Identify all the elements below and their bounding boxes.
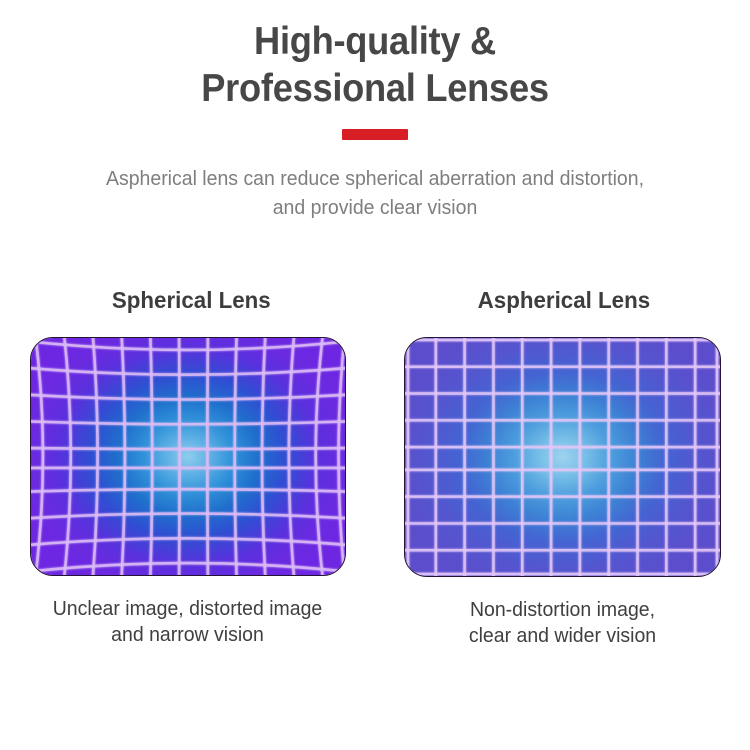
page-title-line-1: High-quality & [26,18,724,65]
aspherical-lens-panel [404,337,721,577]
page-title: High-quality & Professional Lenses [26,0,724,112]
aspherical-lens-caption: Non-distortion image, clear and wider vi… [384,577,740,649]
spherical-lens-caption-line-1: Unclear image, distorted image [9,596,365,622]
aspherical-lens-heading: Aspherical Lens [384,285,740,315]
spherical-lens-panel [30,337,346,576]
spherical-lens-heading: Spherical Lens [9,285,365,315]
header: High-quality & Professional Lenses Asphe… [0,0,750,222]
page-subtitle-line-1: Aspherical lens can reduce spherical abe… [19,164,732,193]
infographic-page: High-quality & Professional Lenses Asphe… [0,0,750,750]
spherical-lens-caption-line-2: and narrow vision [9,622,365,648]
page-subtitle: Aspherical lens can reduce spherical abe… [19,140,732,222]
page-title-line-2: Professional Lenses [26,65,724,112]
page-subtitle-line-2: and provide clear vision [19,193,732,222]
aspherical-lens-caption-line-1: Non-distortion image, [384,597,740,623]
spherical-lens-figure [30,337,346,576]
spherical-lens-caption: Unclear image, distorted image and narro… [9,576,365,648]
aspherical-lens-straight-grid [405,338,720,576]
accent-divider [342,129,408,140]
aspherical-lens-caption-line-2: clear and wider vision [384,623,740,649]
aspherical-lens-figure [404,337,721,577]
spherical-lens-column: Spherical Lens [0,285,375,725]
lens-comparison: Spherical Lens [0,285,750,725]
aspherical-lens-column: Aspherical Lens [375,285,750,725]
spherical-lens-distorted-grid [31,338,345,575]
